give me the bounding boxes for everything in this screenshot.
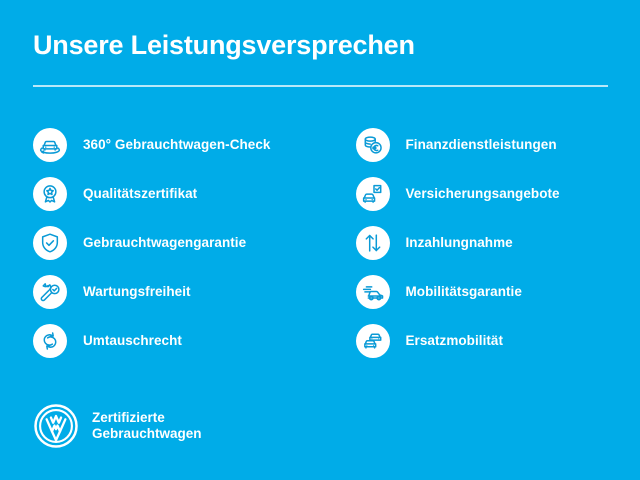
promise-item-mobilitaetsgarantie: Mobilitätsgarantie — [356, 267, 640, 316]
promise-item-wartungsfreiheit: Wartungsfreiheit — [33, 267, 318, 316]
promise-label: Versicherungsangebote — [406, 186, 560, 202]
promises-poster: Unsere Leistungsversprechen 360° — [0, 0, 640, 480]
promise-item-ersatzmobilitaet: Ersatzmobilität — [356, 316, 640, 365]
car-speed-icon — [356, 275, 390, 309]
title-divider — [33, 85, 608, 87]
promise-item-umtauschrecht: Umtauschrecht — [33, 316, 318, 365]
promise-item-qualitaetszertifikat: Qualitätszertifikat — [33, 169, 318, 218]
brand-text-line-1: Zertifizierte — [92, 410, 202, 427]
car-360-check-icon — [33, 128, 67, 162]
promise-label: Umtauschrecht — [83, 333, 182, 349]
promise-label: Gebrauchtwagengarantie — [83, 235, 246, 251]
promise-item-versicherungsangebote: Versicherungsangebote — [356, 169, 640, 218]
promise-item-inzahlungnahme: Inzahlungnahme — [356, 218, 640, 267]
car-document-check-icon — [356, 177, 390, 211]
volkswagen-logo-icon — [33, 403, 79, 449]
wrench-check-icon — [33, 275, 67, 309]
promise-label: 360° Gebrauchtwagen-Check — [83, 137, 270, 153]
promise-label: Wartungsfreiheit — [83, 284, 191, 300]
brand-text-line-2: Gebrauchtwagen — [92, 426, 202, 443]
promises-column-right: Finanzdienstleistungen Versicherungsange… — [318, 120, 640, 365]
up-down-arrows-icon — [356, 226, 390, 260]
brand-lockup: Zertifizierte Gebrauchtwagen — [33, 403, 202, 449]
promise-label: Qualitätszertifikat — [83, 186, 197, 202]
promise-label: Inzahlungnahme — [406, 235, 513, 251]
promise-item-gebrauchtwagengarantie: Gebrauchtwagengarantie — [33, 218, 318, 267]
promises-grid: 360° Gebrauchtwagen-Check Qualitätszerti… — [0, 120, 640, 365]
promise-label: Mobilitätsgarantie — [406, 284, 522, 300]
two-cars-icon — [356, 324, 390, 358]
quality-seal-icon — [33, 177, 67, 211]
shield-check-icon — [33, 226, 67, 260]
promise-label: Ersatzmobilität — [406, 333, 504, 349]
promise-item-finanzdienstleistungen: Finanzdienstleistungen — [356, 120, 640, 169]
promise-item-gebrauchtwagen-check: 360° Gebrauchtwagen-Check — [33, 120, 318, 169]
coins-euro-icon — [356, 128, 390, 162]
promise-label: Finanzdienstleistungen — [406, 137, 557, 153]
brand-text: Zertifizierte Gebrauchtwagen — [92, 410, 202, 443]
page-title: Unsere Leistungsversprechen — [33, 28, 608, 62]
promises-column-left: 360° Gebrauchtwagen-Check Qualitätszerti… — [0, 120, 318, 365]
poster-header: Unsere Leistungsversprechen — [33, 28, 608, 62]
exchange-arrows-icon — [33, 324, 67, 358]
